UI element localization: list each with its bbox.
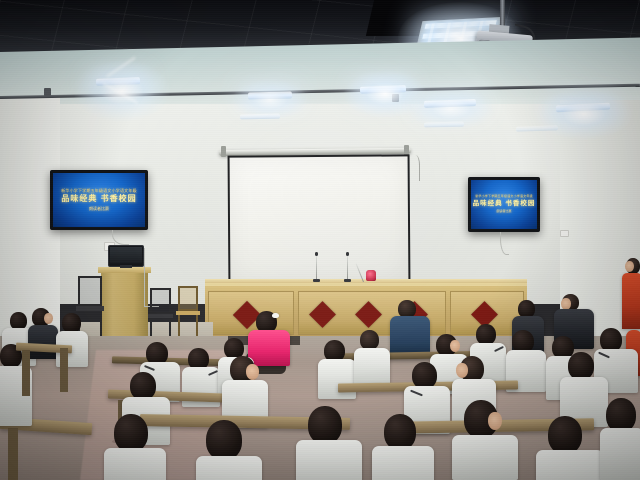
podium-monitor-screen [110, 247, 142, 263]
red-flower-arrangement [366, 270, 376, 281]
left-tv-subtitle: 朗读者比赛 [89, 207, 109, 211]
auditorium-photo: 新华小学下学期五年级语文小学语文年级 品味经典 书香校园 朗读者比赛 新华小学下… [0, 0, 640, 480]
chair-leg [196, 315, 198, 338]
chair-leg [100, 311, 102, 338]
right-wall-tv[interactable]: 新华小学下学期五年级语文小学语文年级 品味经典 书香校园 朗读者比赛 [468, 177, 540, 232]
microphone-head [315, 252, 318, 256]
right-tv-header: 新华小学下学期五年级语文小学语文年级 [475, 195, 533, 198]
stage-chair-black-center[interactable] [148, 288, 173, 340]
bench-leg [60, 348, 68, 392]
stage-diamond [355, 301, 382, 328]
podium-monitor-stand [120, 265, 132, 268]
conduit-clip [392, 94, 399, 102]
pull-down-projection-screen[interactable] [228, 154, 411, 285]
stage-chair-black-left[interactable] [76, 276, 104, 338]
fluorescent-tube-light [240, 114, 280, 120]
gooseneck-microphone [347, 254, 348, 280]
left-tv-screen: 新华小学下学期五年级语文小学语文年级 品味经典 书香校园 朗读者比赛 [53, 173, 145, 227]
fluorescent-tube-light [248, 91, 292, 99]
projection-screen-cable [409, 155, 420, 181]
roller-bar-bracket-left [221, 146, 226, 157]
right-tv-screen: 新华小学下学期五年级语文小学语文年级 品味经典 书香校园 朗读者比赛 [471, 180, 537, 229]
chair-back [150, 288, 171, 314]
right-tv-title: 品味经典 书香校园 [473, 201, 536, 208]
wall-power-socket[interactable] [560, 230, 569, 237]
right-tv-subtitle: 朗读者比赛 [496, 210, 511, 213]
stage-diamond [309, 301, 336, 328]
bench-leg [22, 350, 30, 396]
white-hair-bow [272, 313, 279, 318]
left-wall-tv[interactable]: 新华小学下学期五年级语文小学语文年级 品味经典 书香校园 朗读者比赛 [50, 170, 148, 230]
stage-chair-wood-right[interactable] [176, 286, 200, 338]
microphone-base [344, 279, 351, 282]
left-tv-header: 新华小学下学期五年级语文小学语文年级 [61, 189, 137, 193]
bench-leg [8, 428, 18, 480]
chair-back [178, 286, 198, 311]
microphone-head [346, 252, 349, 256]
gooseneck-microphone [316, 254, 317, 280]
microphone-base [313, 279, 320, 282]
fluorescent-tube-light [424, 122, 464, 128]
chair-back [78, 276, 102, 306]
stage-panel-left [208, 291, 294, 335]
left-tv-title: 品味经典 书香校园 [61, 195, 136, 203]
conduit-clip [44, 88, 51, 96]
chair-leg [178, 315, 180, 338]
